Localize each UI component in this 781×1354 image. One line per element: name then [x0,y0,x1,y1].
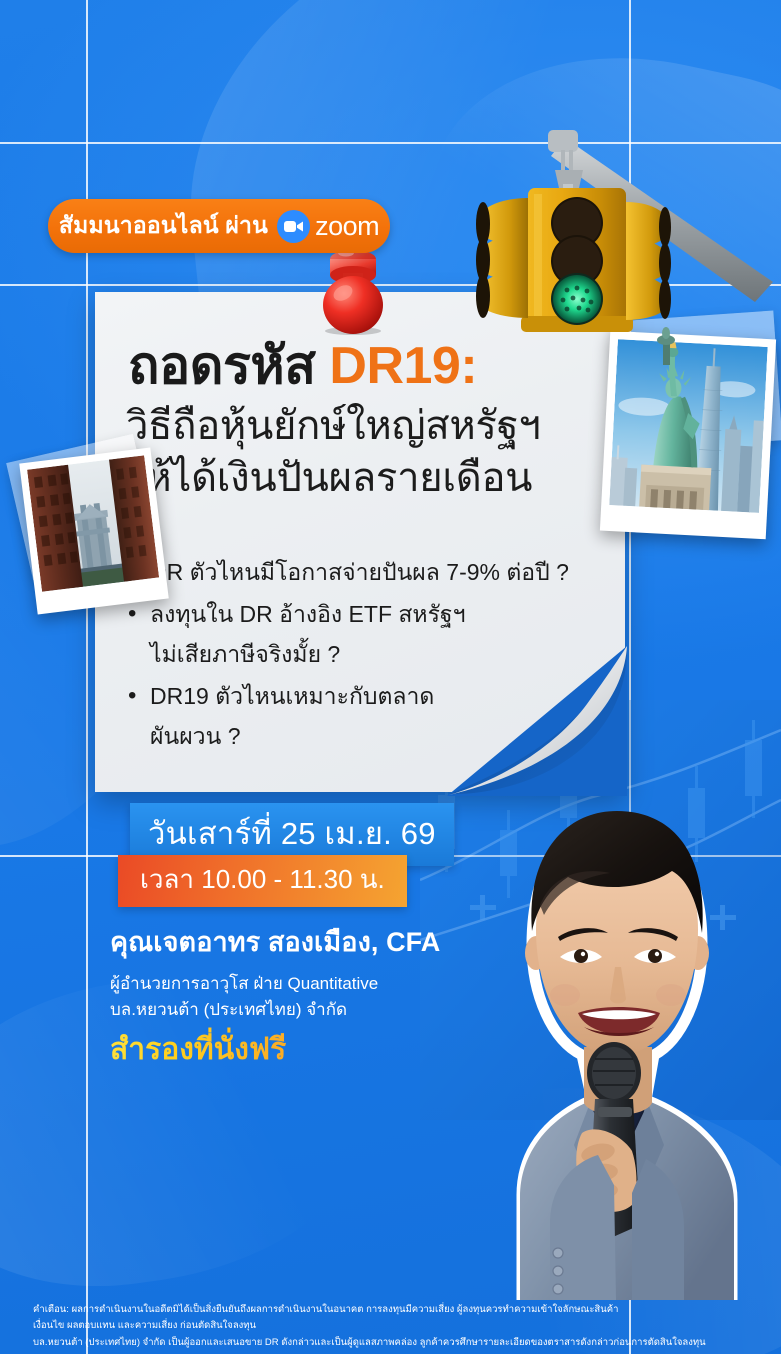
cta-label[interactable]: สำรองที่นั่งฟรี [110,1026,286,1073]
camera-glyph [284,220,303,233]
disclaimer-line-1: คำเตือน: ผลการดำเนินงานในอดีตมิได้เป็นสิ… [33,1302,753,1318]
speaker-organization: บล.หยวนต้า (ประเทศไทย) จำกัด [110,997,440,1023]
poster-root: ถอดรหัส DR19: วิธีถือหุ้นยักษ์ใหญ่สหรัฐฯ… [0,0,781,1354]
bullet-text: DR ตัวไหนมีโอกาสจ่ายปันผล 7-9% ต่อปี ? [150,552,569,592]
headline-line-3: ให้ได้เงินปันผลรายเดือน [126,452,628,504]
video-camera-icon [277,210,310,243]
zoom-wordmark: zoom [315,211,379,242]
bullet-list: • DR ตัวไหนมีโอกาสจ่ายปันผล 7-9% ต่อปี ?… [128,552,628,758]
zoom-logo: zoom [277,210,379,243]
webinar-platform-badge[interactable]: สัมมนาออนไลน์ ผ่าน zoom [48,199,390,253]
bullet-text: ลงทุนใน DR อ้างอิง ETF สหรัฐฯ ไม่เสียภาษ… [150,594,466,674]
bullet-text: DR19 ตัวไหนเหมาะกับตลาด ผันผวน ? [150,676,434,756]
badge-label: สัมมนาออนไลน์ ผ่าน [59,208,268,244]
statue-of-liberty-image [609,339,767,513]
traffic-light-icon [455,130,781,365]
lamp-post-decor [657,327,675,365]
bullet-item: • DR19 ตัวไหนเหมาะกับตลาด ผันผวน ? [128,676,628,756]
manhattan-bridge-image [27,455,159,591]
event-date-text: วันเสาร์ที่ 25 เม.ย. 69 [148,816,436,851]
disclaimer-footer: คำเตือน: ผลการดำเนินงานในอดีตมิได้เป็นสิ… [33,1302,753,1351]
disclaimer-line-2: เงื่อนไข ผลตอบแทน และความเสี่ยง ก่อนตัดส… [33,1318,753,1334]
headline-prefix: ถอดรหัส [128,337,329,395]
event-time-text: เวลา 10.00 - 11.30 น. [140,864,385,894]
headline-line-2: วิธีถือหุ้นยักษ์ใหญ่สหรัฐฯ [126,400,628,452]
bullet-item: • DR ตัวไหนมีโอกาสจ่ายปันผล 7-9% ต่อปี ? [128,552,628,592]
bullet-marker: • [128,676,150,716]
bullet-item: • ลงทุนใน DR อ้างอิง ETF สหรัฐฯ ไม่เสียภ… [128,594,628,674]
speaker-role: ผู้อำนวยการอาวุโส ฝ่าย Quantitative [110,971,440,997]
speaker-name: คุณเจตอาทร สองเมือง, CFA [110,920,440,963]
event-time-badge: เวลา 10.00 - 11.30 น. [118,855,407,907]
speaker-block: คุณเจตอาทร สองเมือง, CFA ผู้อำนวยการอาวุ… [110,920,440,1024]
disclaimer-line-3: บล.หยวนต้า (ประเทศไทย) จำกัด เป็นผู้ออกแ… [33,1335,753,1351]
photo-manhattan-bridge [19,448,169,615]
pushpin-icon [305,243,401,335]
speaker-portrait-photo [432,755,781,1300]
suit-buttons [553,1248,563,1294]
